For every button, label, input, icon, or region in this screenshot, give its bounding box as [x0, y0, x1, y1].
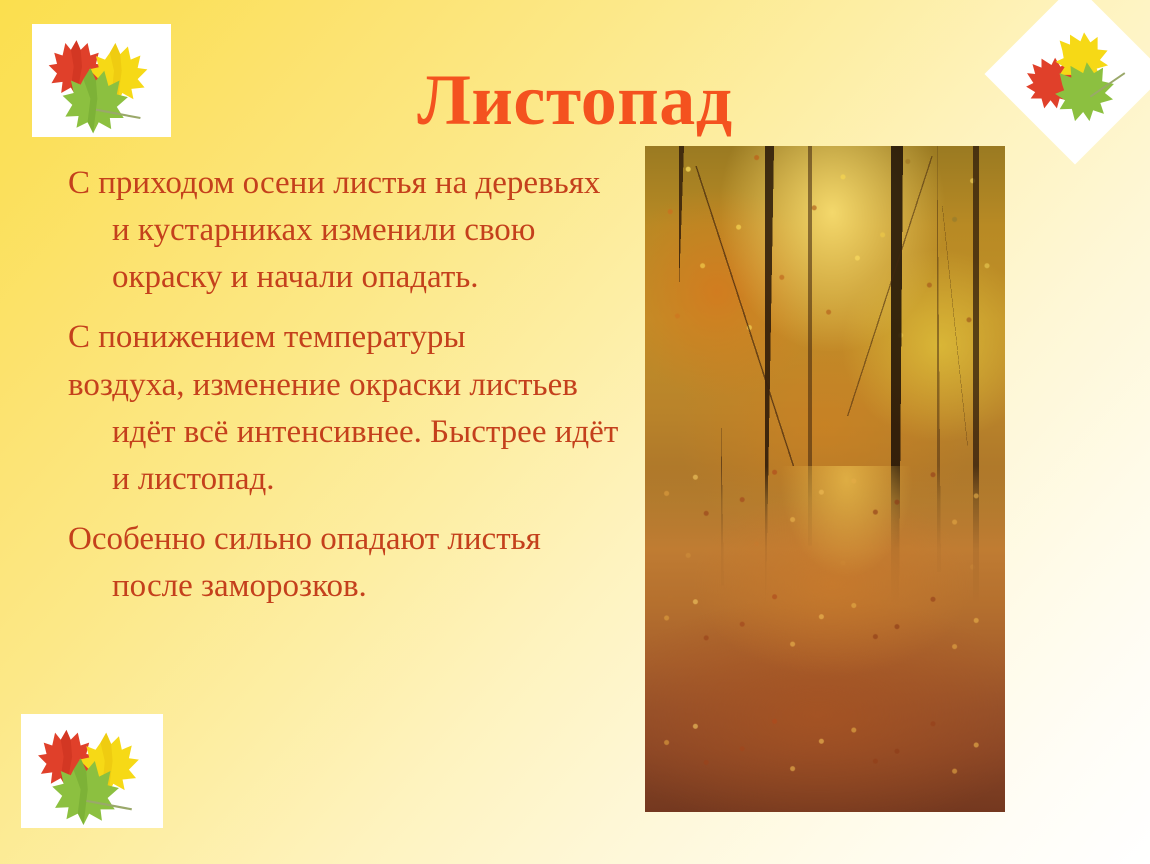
body-paragraph-3: воздуха, изменение окраски листьев идёт …: [60, 362, 620, 503]
body-paragraph-1: С приходом осени листья на деревьях и ку…: [60, 160, 620, 301]
maple-leaf-cluster-icon: [32, 24, 171, 137]
slide-body-text: С приходом осени листья на деревьях и ку…: [60, 160, 620, 623]
maple-leaves-image-top-left: [32, 24, 171, 137]
maple-leaf-cluster-icon: [21, 714, 163, 828]
body-paragraph-2: С понижением температуры: [60, 314, 620, 361]
maple-leaves-image-bottom-left: [21, 714, 163, 828]
photo-path-texture: [645, 466, 1005, 812]
presentation-slide: Листопад С приходом осени листья на дере…: [0, 0, 1150, 864]
slide-title: Листопад: [0, 62, 1150, 140]
autumn-forest-photo: Осенний лес с тропинкой, усыпанной опавш…: [645, 146, 1005, 812]
body-paragraph-4: Особенно сильно опадают листья после зам…: [60, 516, 620, 610]
